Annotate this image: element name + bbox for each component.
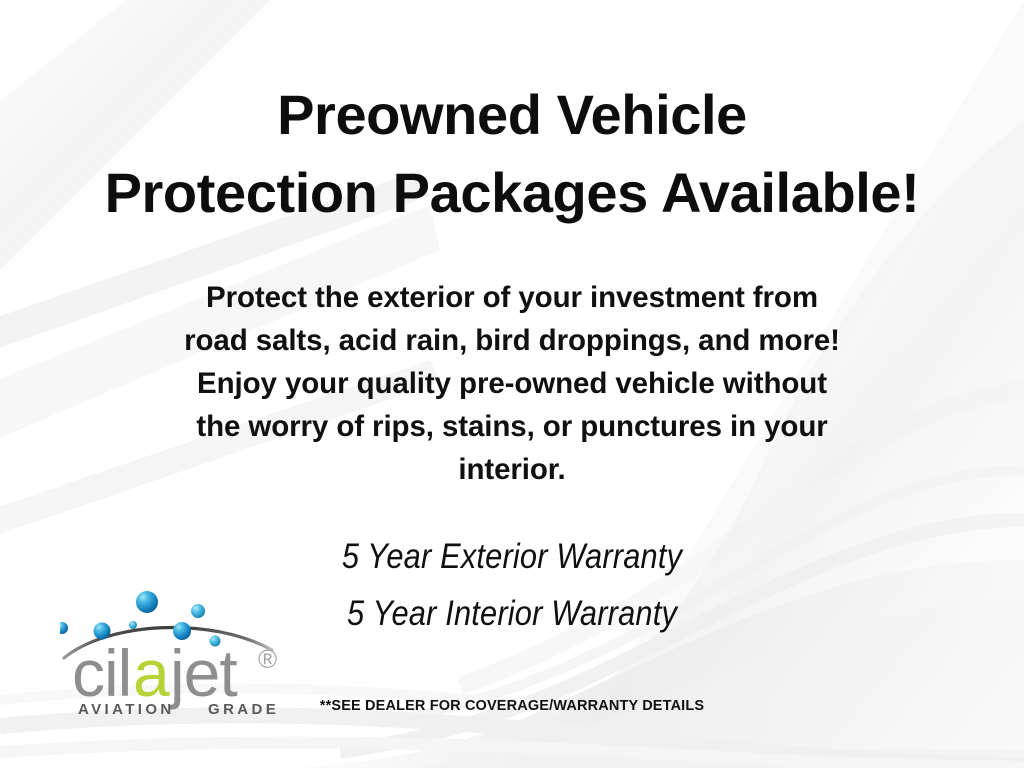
logo-wordmark-cil: cil <box>72 636 131 710</box>
body-line-4: the worry of rips, stains, or punctures … <box>112 405 912 448</box>
title-line-1: Preowned Vehicle <box>0 76 1024 154</box>
logo-wordmark-accent-a: a <box>133 636 170 710</box>
warranty-exterior: 5 Year Exterior Warranty <box>61 528 962 585</box>
logo-sphere-large <box>136 591 158 613</box>
logo-wordmark-jet: jet <box>168 636 237 710</box>
cilajet-logo-graphic: cil a jet ® AVIATION GRADE <box>60 584 296 716</box>
page-title: Preowned Vehicle Protection Packages Ava… <box>0 76 1024 232</box>
logo-tagline-grade: GRADE <box>208 701 279 716</box>
cilajet-logo: cil a jet ® AVIATION GRADE <box>60 584 296 716</box>
slide-content: Preowned Vehicle Protection Packages Ava… <box>0 0 1024 768</box>
title-line-2: Protection Packages Available! <box>0 154 1024 232</box>
logo-sphere-small-top <box>129 621 137 629</box>
registered-trademark-icon: ® <box>258 644 277 674</box>
logo-sphere-medium-right <box>191 604 205 618</box>
logo-tagline-aviation: AVIATION <box>78 701 175 716</box>
body-line-2: road salts, acid rain, bird droppings, a… <box>112 319 912 362</box>
body-line-5: interior. <box>112 448 912 491</box>
body-line-3: Enjoy your quality pre-owned vehicle wit… <box>112 362 912 405</box>
slide-canvas: Preowned Vehicle Protection Packages Ava… <box>0 0 1024 768</box>
logo-sphere-edge-left <box>60 622 68 634</box>
body-copy: Protect the exterior of your investment … <box>112 276 912 491</box>
body-line-1: Protect the exterior of your investment … <box>112 276 912 319</box>
